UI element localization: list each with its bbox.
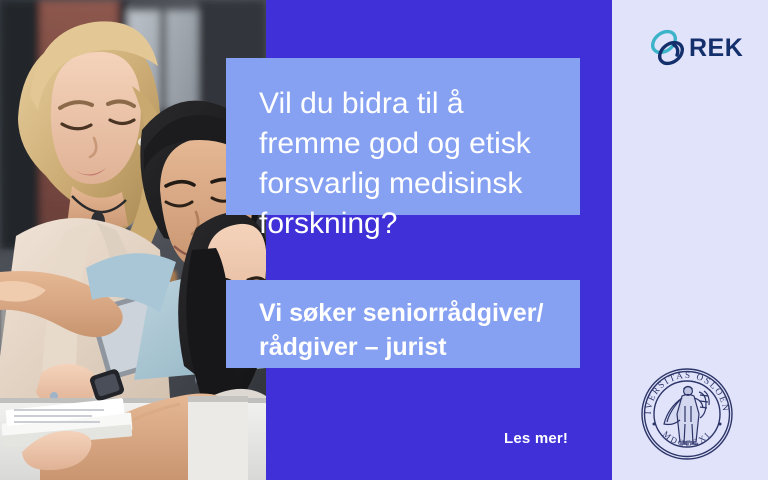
rek-logo[interactable]: REK [648, 24, 744, 72]
role-box: Vi søker seniorrådgiver/ rådgiver – juri… [226, 280, 580, 368]
read-more-link[interactable]: Les mer! [504, 430, 568, 447]
headline-box: Vil du bidra til å fremme god og etisk f… [226, 58, 580, 215]
recruitment-banner: REK UNIVERSITAS OSLOENSIS MDCCCXI [0, 0, 768, 480]
rek-wordmark: REK [689, 36, 743, 61]
uio-seal: UNIVERSITAS OSLOENSIS MDCCCXI [635, 362, 739, 466]
interlocking-rings-icon [648, 25, 688, 71]
headline-text: Vil du bidra til å fremme god og etisk f… [259, 84, 554, 244]
role-text: Vi søker seniorrådgiver/ rådgiver – juri… [259, 296, 558, 364]
